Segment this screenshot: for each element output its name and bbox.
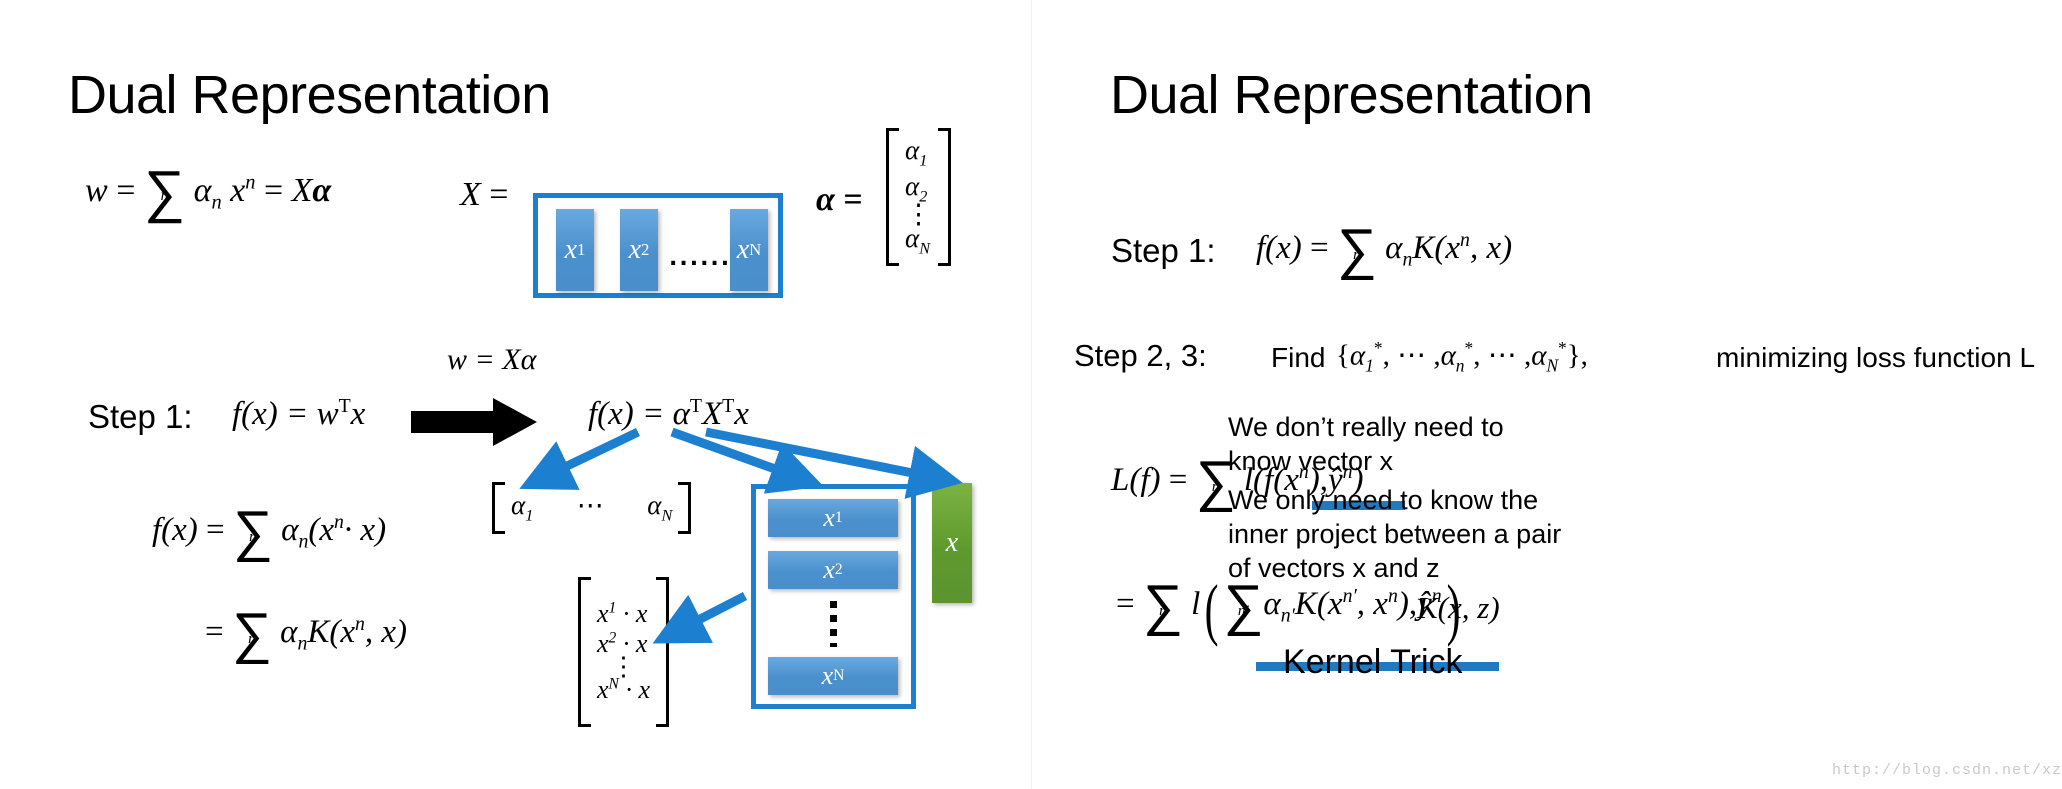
step1-primal-tail: x (351, 396, 366, 432)
row-ellipsis: ⋯ (577, 490, 604, 520)
note-line-2: know vector x (1228, 444, 1393, 479)
equation-w-dual: w = ∑ n αn xn = Xα (85, 168, 331, 214)
alpha-1: α (1350, 340, 1365, 372)
slide-canvas: Dual Representation w = ∑ n αn xn = Xα X… (0, 0, 2062, 789)
equation-step1-kernel: f(x) = ∑ n αnK(xn, x) (1256, 228, 1512, 273)
x-symbol: x (230, 172, 245, 209)
arrow-to-green-x (706, 432, 938, 478)
arrow-annotation-w-equals-Xalpha: w = Xα (447, 345, 536, 375)
chip-label: x (823, 503, 835, 533)
horizontal-ellipsis: ...... (669, 246, 731, 271)
kernel-open: K(x (1412, 230, 1460, 266)
step23-minimizing-text: minimizing loss function L (1716, 342, 2035, 374)
x-column-chip-1: x1 (556, 209, 594, 291)
alpha-N: α (1531, 340, 1546, 372)
equation-fx-kernel: = ∑ n αnK(xn, x) (205, 612, 407, 657)
big-paren-open: ( (1205, 574, 1219, 643)
dot-row-tail: · x (625, 675, 650, 704)
x-row-chip-2: x2 (768, 551, 898, 589)
alpha-row-vector: α1 ⋯ αN (492, 482, 691, 534)
X-matrix-symbol: X (292, 172, 313, 209)
x-superscript: n (245, 171, 255, 193)
arrow-to-dot-vector (675, 596, 745, 632)
alpha-last: α (647, 490, 661, 520)
kernel-tail: , x) (365, 614, 407, 650)
summation-symbol: ∑ n (233, 510, 273, 555)
dot-row-x: x (597, 629, 609, 658)
fx-body-close: ) (375, 512, 386, 548)
alpha-N-star: * (1558, 338, 1567, 358)
equals-2: = (264, 172, 283, 209)
set-close-brace: }, (1567, 340, 1588, 372)
alpha-vector-label: α = (816, 183, 863, 217)
alpha-symbol: α (280, 614, 297, 650)
dot-product-column-vector: x1 · x x2 · x ⋮ xN · x (578, 577, 669, 727)
alpha-subscript: n (1403, 249, 1413, 271)
loss-lhs: L(f) (1111, 462, 1161, 498)
bracket-left (492, 482, 505, 534)
chip-superscript: 2 (641, 240, 649, 260)
bracket-right (678, 482, 691, 534)
summation-index: n (248, 631, 256, 646)
step1-primal-lhs: f(x) = w (232, 396, 339, 432)
alpha-row-entries: α1 ⋯ αN (511, 490, 672, 525)
step23-find-label: Find (1271, 342, 1325, 374)
set-ellipsis-1: , ⋯ , (1383, 340, 1441, 372)
set-open-brace: { (1336, 340, 1350, 372)
alpha-n: α (1441, 340, 1456, 372)
alpha-vector-equals: = (843, 181, 862, 218)
alpha-row-symbol: α (905, 171, 919, 201)
kernel-superscript: n (1460, 229, 1470, 251)
summation-index: n (1212, 479, 1220, 494)
fx-label: f(x) (152, 512, 198, 548)
alpha-subscript: n (299, 531, 309, 553)
bold-alpha-symbol: α (312, 172, 331, 209)
alpha-row-symbol: α (905, 135, 919, 165)
chip-label: x (629, 234, 641, 266)
alpha-symbol: α (281, 512, 298, 548)
summation-index: n (1353, 247, 1361, 262)
bracket-left (578, 577, 591, 727)
dot-row-sup: 1 (609, 599, 617, 616)
chip-superscript: N (833, 667, 844, 685)
alpha-subscript: n′ (1281, 605, 1295, 627)
alpha-symbol: α (1385, 230, 1402, 266)
x-row-stack-box: x1 x2 xN (751, 484, 916, 709)
x-row-chip-N: xN (768, 657, 898, 695)
inner-summation-symbol: ∑ n′ (1223, 584, 1263, 629)
loss2-comma: , (1409, 586, 1417, 622)
transpose-superscript-2: T (722, 395, 734, 417)
kernel-sup-1: n′ (1343, 585, 1357, 607)
set-ellipsis-2: , ⋯ , (1473, 340, 1531, 372)
step1-label-left: Step 1: (88, 398, 193, 436)
dot-row-N: xN · x (597, 675, 650, 705)
note-line-5: of vectors x and z (1228, 551, 1440, 586)
chip-superscript: 1 (577, 240, 585, 260)
dot-row-x: x (597, 599, 609, 628)
kernel-mid: , x (1357, 586, 1388, 622)
alpha-row-symbol: α (905, 223, 919, 253)
dot-row-1: x1 · x (597, 599, 650, 629)
dot-row-sup: 2 (609, 629, 617, 646)
bracket-left (886, 128, 899, 266)
transpose-superscript-1: T (690, 395, 702, 417)
step1-dual-X: X (702, 396, 722, 432)
alpha-vector-rows: α1 α2 ⋮ αN (899, 128, 938, 266)
kernel-close: ) (1398, 586, 1409, 622)
chip-superscript: 1 (835, 509, 843, 527)
w-symbol: w (85, 172, 108, 209)
loss2-equals: = (1116, 586, 1135, 622)
fx-equals: = (1310, 230, 1329, 266)
transpose-superscript: T (339, 395, 351, 417)
alpha-1-sub: 1 (1365, 355, 1374, 375)
loss-equals: = (1169, 462, 1188, 498)
alpha-row-vector-contents: α1 ⋯ αN (505, 482, 678, 534)
dot-vector-rows: x1 · x x2 · x ⋮ xN · x (591, 577, 656, 727)
csdn-watermark: http://blog.csdn.net/xzy_thu (1832, 762, 2062, 779)
alpha-column-vector: α1 α2 ⋮ αN (886, 128, 951, 266)
summation-symbol: ∑ n (1143, 584, 1183, 629)
chip-superscript: N (749, 240, 761, 260)
left-slide-panel: Dual Representation w = ∑ n αn xn = Xα X… (0, 0, 1031, 789)
fx-label: f(x) (1256, 230, 1302, 266)
vertical-ellipsis-icon (830, 601, 837, 647)
x-row-chip-1: x1 (768, 499, 898, 537)
note-line-1: We don’t really need to (1228, 410, 1504, 445)
X-definition-label: X = (460, 178, 508, 212)
note-line-4: inner project between a pair (1228, 517, 1561, 552)
note-line-3: We only need to know the (1228, 483, 1538, 518)
step23-label: Step 2, 3: (1074, 338, 1207, 374)
loss2-fn: l (1191, 586, 1200, 622)
dot-row-tail: · x (623, 599, 648, 628)
dot-row-sup: N (609, 676, 619, 693)
alpha-n-sub: n (1456, 355, 1465, 375)
kernel-tail: , x) (1470, 230, 1512, 266)
chip-label: x (822, 661, 834, 691)
alpha-N-sub: N (1546, 355, 1558, 375)
arrow-to-x-stack (672, 432, 800, 478)
page-title-right: Dual Representation (1110, 64, 1593, 126)
summation-index: n (249, 529, 257, 544)
kernel-superscript: n (355, 613, 365, 635)
alpha-subscript: n (297, 633, 307, 655)
alpha-first-sub: 1 (525, 507, 533, 525)
kernel-open: K(x (1295, 586, 1343, 622)
summation-index: n (1159, 603, 1167, 618)
kernel-open: K(x (307, 614, 355, 650)
alpha-row-N: αN (905, 223, 932, 258)
alpha-symbol: α (194, 172, 212, 209)
alpha-symbol: α (1263, 586, 1280, 622)
step1-label-right: Step 1: (1111, 232, 1216, 270)
X-column-box: x1 x2 ...... xN (533, 193, 783, 298)
alpha-first: α (511, 490, 525, 520)
arrow-to-alpha-row (542, 432, 638, 478)
fx-body-open: (x (308, 512, 334, 548)
chip-label: x (565, 234, 577, 266)
chip-superscript: 2 (835, 561, 843, 579)
alpha-row-sub: 1 (919, 152, 927, 170)
summation-symbol: ∑ n (232, 612, 272, 657)
fx-body-dot: · x (344, 512, 375, 548)
inner-summation-index: n′ (1238, 603, 1249, 618)
fx-equals: = (206, 512, 225, 548)
transform-arrow-icon (411, 398, 537, 451)
kernel-trick-label: Kernel Trick (1283, 643, 1463, 682)
page-title-left: Dual Representation (68, 64, 551, 126)
equation-fx-dotproduct: f(x) = ∑ n αn(xn· x) (152, 510, 386, 555)
X-label: X (460, 176, 481, 213)
alpha-n-star: * (1465, 338, 1474, 358)
step1-dual-tail: x (734, 396, 749, 432)
summation-index: n (161, 188, 169, 204)
alpha-vector-symbol: α (816, 181, 835, 218)
summation-symbol: ∑ n (1337, 228, 1377, 273)
x-vector-green-chip: x (932, 483, 972, 603)
alpha-row-sub: N (919, 240, 930, 258)
x-column-chip-2: x2 (620, 209, 658, 291)
chip-label: x (737, 234, 749, 266)
equals-1: = (116, 172, 135, 209)
step1-primal-equation: f(x) = wTx (232, 397, 365, 431)
alpha-1-star: * (1374, 338, 1383, 358)
fx-kernel-equals: = (205, 614, 224, 650)
alpha-row-ellipsis: ⋮ (905, 206, 932, 224)
kernel-symbol-label: K(x, z) (1417, 592, 1500, 623)
bracket-right (656, 577, 669, 727)
dot-row-x: x (597, 675, 609, 704)
step1-dual-equation: f(x) = αTXTx (588, 397, 749, 431)
alpha-row-1: α1 (905, 135, 932, 170)
dot-row-ellipsis: ⋮ (597, 659, 650, 676)
summation-symbol: ∑ n (144, 168, 185, 214)
chip-label: x (823, 555, 835, 585)
fx-body-superscript: n (334, 511, 344, 533)
alpha-last-sub: N (661, 507, 672, 525)
x-column-chip-N: xN (730, 209, 768, 291)
step1-dual-lhs: f(x) = α (588, 396, 690, 432)
bracket-right (938, 128, 951, 266)
right-slide-panel: Dual Representation Step 1: f(x) = ∑ n α… (1031, 0, 2062, 789)
alpha-subscript: n (211, 192, 221, 214)
kernel-sup-2: n (1388, 585, 1398, 607)
step23-alpha-set: {α1*, ⋯ ,αn*, ⋯ ,αN*}, (1336, 340, 1588, 375)
X-equals: = (489, 176, 508, 213)
